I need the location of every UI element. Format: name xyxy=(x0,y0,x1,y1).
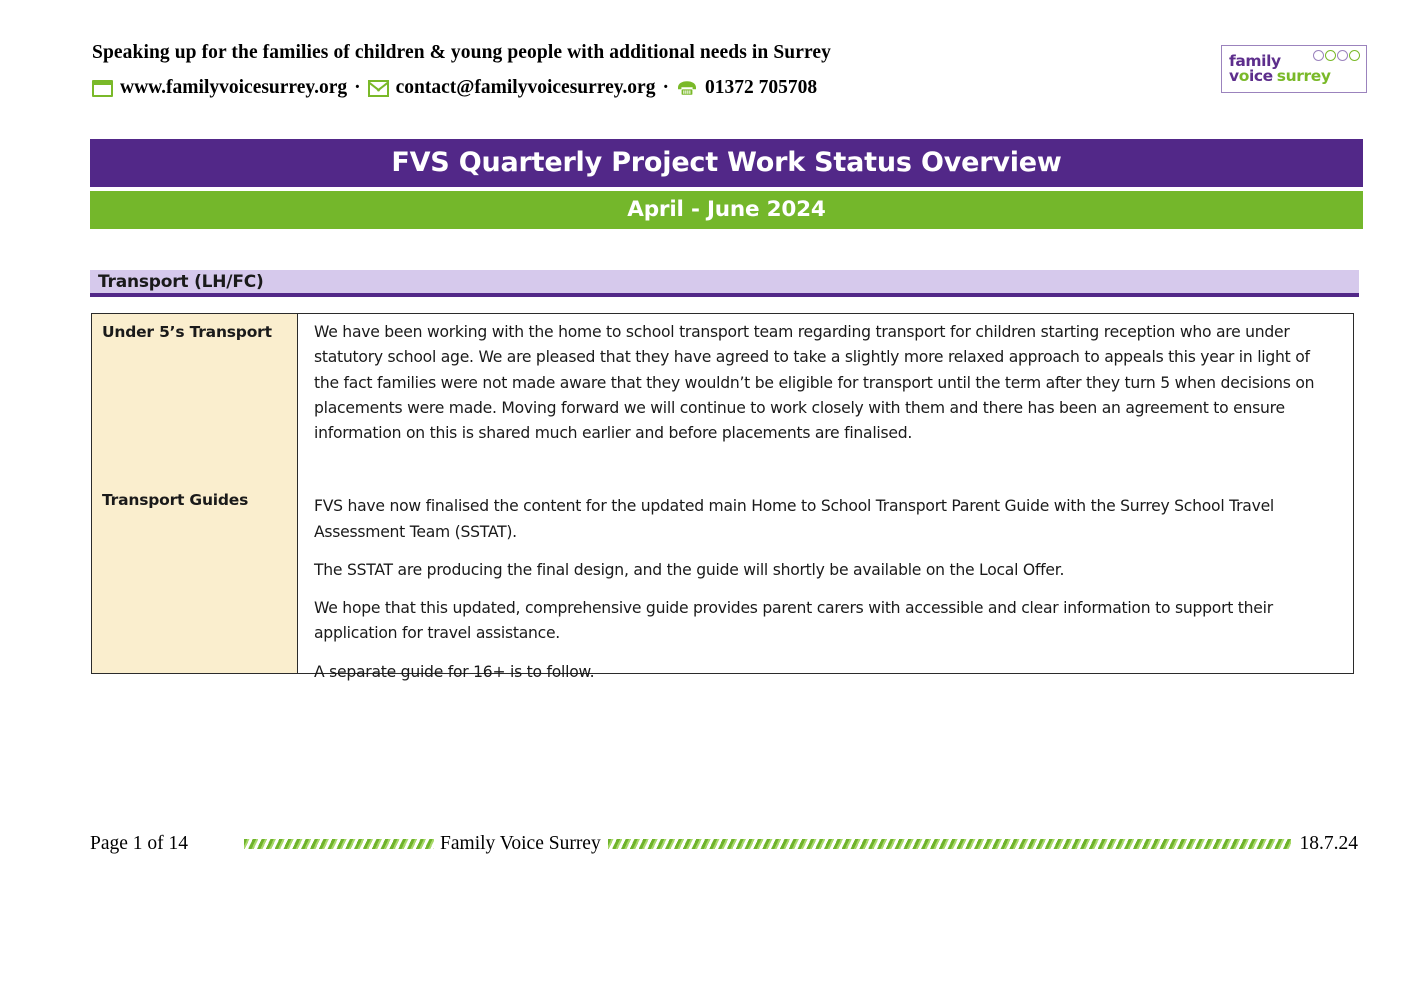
logo-word-voice-o: o xyxy=(1239,69,1249,85)
monitor-icon xyxy=(92,80,113,97)
family-voice-surrey-logo: family voice surrey xyxy=(1221,45,1367,93)
row-spacer xyxy=(314,446,1337,494)
logo-word-voice-ice: ice xyxy=(1249,69,1273,85)
logo-faces-group xyxy=(1313,50,1360,61)
table-body-column: We have been working with the home to sc… xyxy=(298,314,1353,673)
section-header-transport: Transport (LH/FC) xyxy=(90,270,1359,297)
decorative-stripe-right-icon xyxy=(608,839,1291,849)
footer-date: 18.7.24 xyxy=(1300,833,1359,855)
table-row: The SSTAT are producing the final design… xyxy=(314,558,1337,583)
footer-center-group: Family Voice Surrey 18.7.24 xyxy=(244,833,1358,855)
document-header: Speaking up for the families of children… xyxy=(92,42,1362,99)
table-row: We have been working with the home to sc… xyxy=(314,320,1337,446)
section-header-label: Transport (LH/FC) xyxy=(98,272,264,292)
contact-line: www.familyvoicesurrey.org · contact@fami… xyxy=(92,77,1362,99)
document-title-bar: FVS Quarterly Project Work Status Overvi… xyxy=(90,139,1363,187)
separator-1: · xyxy=(354,77,361,99)
row-label-transport-guides: Transport Guides xyxy=(102,491,248,509)
document-period-bar: April - June 2024 xyxy=(90,191,1363,229)
table-row: FVS have now finalised the content for t… xyxy=(314,494,1337,545)
document-footer: Page 1 of 14 Family Voice Surrey 18.7.24 xyxy=(90,830,1358,858)
tagline: Speaking up for the families of children… xyxy=(92,42,1362,64)
email-text[interactable]: contact@familyvoicesurrey.org xyxy=(396,77,656,99)
row-label-under-5s-transport: Under 5’s Transport xyxy=(102,323,272,341)
table-row: A separate guide for 16+ is to follow. xyxy=(314,660,1337,685)
phone-text: 01372 705708 xyxy=(705,77,817,99)
footer-organisation-name: Family Voice Surrey xyxy=(440,833,601,855)
envelope-icon xyxy=(368,80,389,97)
status-table: Under 5’s Transport Transport Guides We … xyxy=(91,313,1354,674)
telephone-icon xyxy=(676,79,698,97)
website-text[interactable]: www.familyvoicesurrey.org xyxy=(120,77,347,99)
page-number: Page 1 of 14 xyxy=(90,833,188,855)
logo-word-voice-v: v xyxy=(1229,69,1239,85)
logo-row-voice-surrey: voice surrey xyxy=(1229,69,1331,85)
table-row: We hope that this updated, comprehensive… xyxy=(314,596,1337,647)
logo-face-icon-4 xyxy=(1349,50,1360,61)
logo-face-icon-2 xyxy=(1325,50,1336,61)
table-label-column: Under 5’s Transport Transport Guides xyxy=(92,314,298,673)
separator-2: · xyxy=(662,77,669,99)
logo-face-icon-3 xyxy=(1337,50,1348,61)
logo-face-icon-1 xyxy=(1313,50,1324,61)
decorative-stripe-left-icon xyxy=(244,839,434,849)
logo-word-surrey: surrey xyxy=(1277,69,1331,85)
